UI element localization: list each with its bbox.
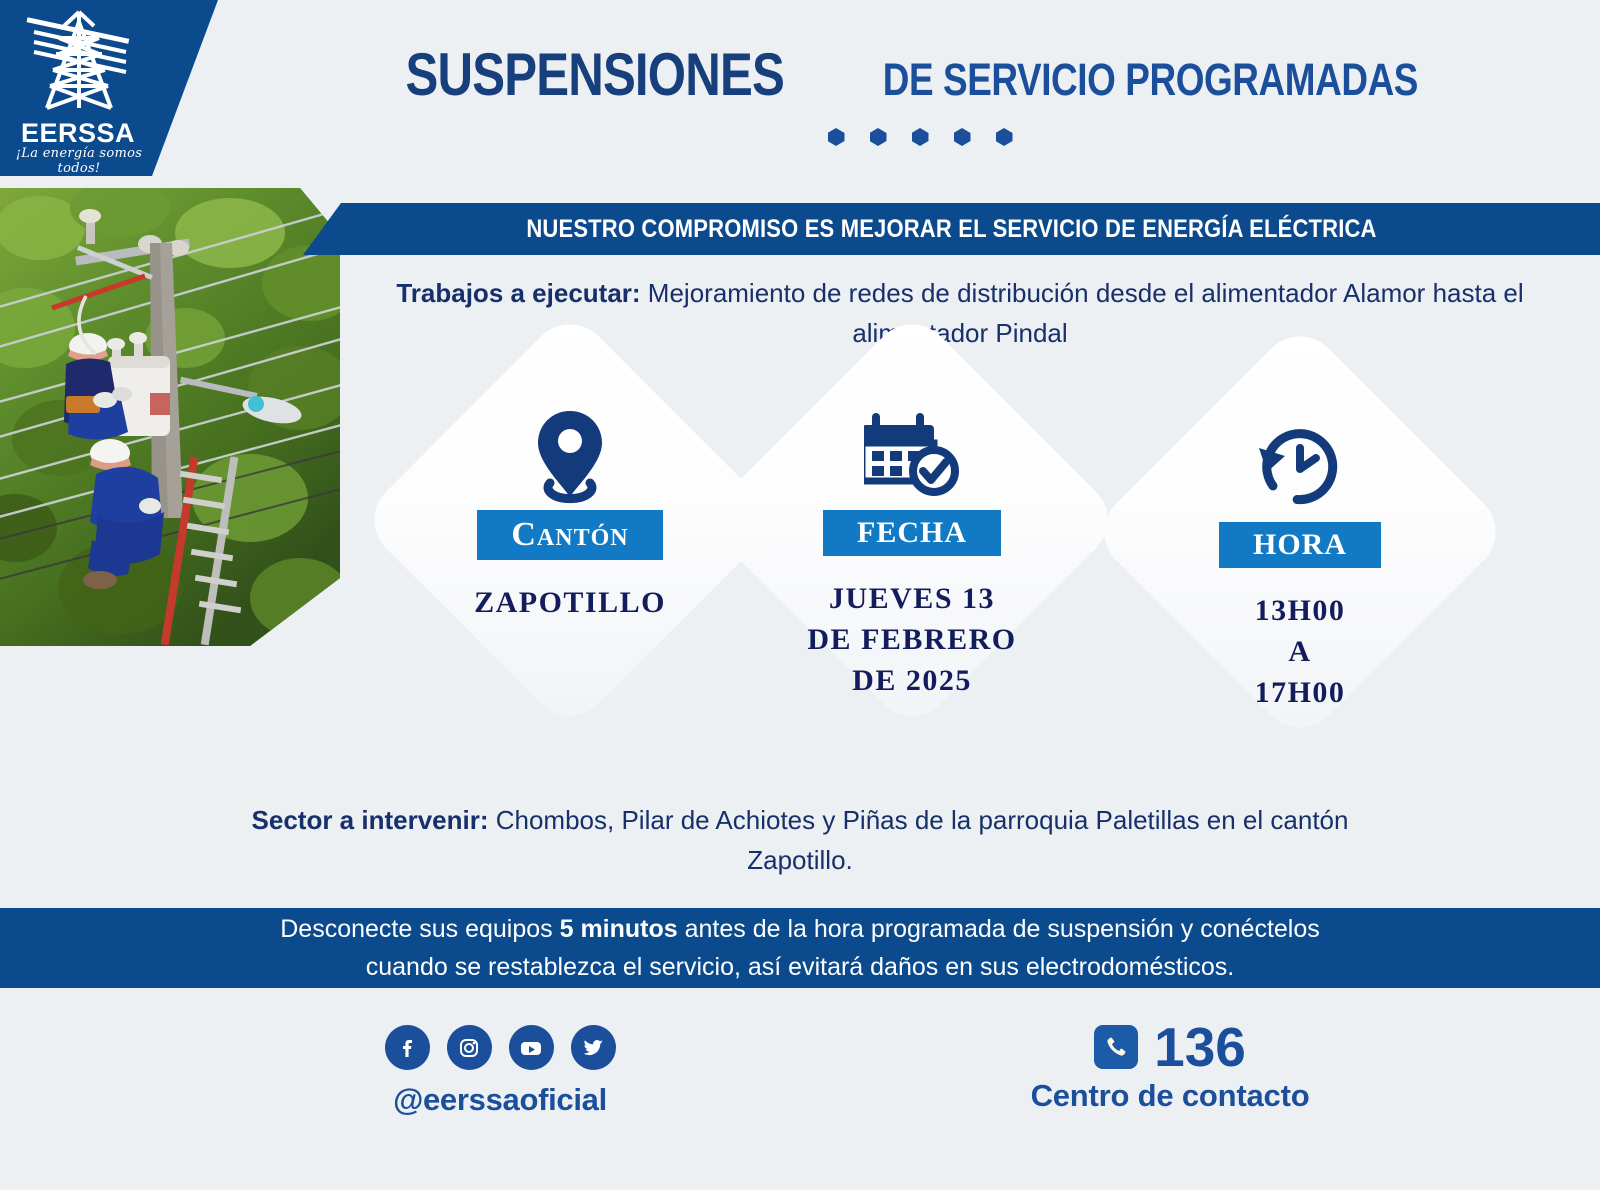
clock-restore-icon xyxy=(1090,412,1510,522)
transmission-tower-icon xyxy=(14,8,144,133)
warning-part1: Desconecte sus equipos xyxy=(280,915,559,943)
works-label: Trabajos a ejecutar: xyxy=(396,278,640,308)
card-fecha: FECHA JUEVES 13 DE FEBRERO DE 2025 xyxy=(762,370,1062,670)
hora-line-1: 13H00 xyxy=(1090,590,1510,631)
commitment-banner: NUESTRO COMPROMISO ES MEJORAR EL SERVICI… xyxy=(303,203,1600,255)
warning-part2: antes de la hora programada de suspensió… xyxy=(678,915,1320,943)
poster-root: EERSSA ¡La energía somos todos! xyxy=(0,0,1600,1190)
separator-dot xyxy=(912,128,929,146)
eerssa-logo-block: EERSSA ¡La energía somos todos! xyxy=(0,0,218,176)
dot-separator xyxy=(300,128,1540,146)
title-rest: DE SERVICIO PROGRAMADAS xyxy=(882,54,1417,106)
title-strong: SUSPENSIONES xyxy=(405,40,783,109)
card-label-fecha: FECHA xyxy=(823,510,1001,556)
card-content: HORA 13H00 A 17H00 xyxy=(1090,412,1510,713)
phone-icon xyxy=(1094,1025,1138,1069)
warning-text: Desconecte sus equipos 5 minutos antes d… xyxy=(280,910,1320,986)
works-text: Mejoramiento de redes de distribución de… xyxy=(641,278,1524,348)
social-section: @eerssaoficial xyxy=(380,1025,620,1118)
contact-top-row: 136 xyxy=(1000,1022,1340,1072)
sector-paragraph: Sector a intervenir: Chombos, Pilar de A… xyxy=(200,800,1400,880)
card-canton: Cantón ZAPOTILLO xyxy=(420,370,720,670)
photo-inner xyxy=(0,188,340,646)
separator-dot xyxy=(828,128,845,146)
logo-wordmark: EERSSA xyxy=(8,118,148,149)
contact-section: 136 Centro de contacto xyxy=(1000,1022,1340,1114)
hora-line-3: 17H00 xyxy=(1090,672,1510,713)
logo-tagline: ¡La energía somos todos! xyxy=(4,146,154,176)
fecha-line-1: JUEVES 13 xyxy=(702,578,1122,619)
twitter-icon[interactable] xyxy=(571,1025,616,1070)
sector-text: Chombos, Pilar de Achiotes y Piñas de la… xyxy=(489,805,1349,875)
card-label-canton: Cantón xyxy=(477,510,662,560)
card-hora: HORA 13H00 A 17H00 xyxy=(1150,382,1450,682)
social-icon-row xyxy=(380,1025,620,1070)
page-title: SUSPENSIONES DE SERVICIO PROGRAMADAS xyxy=(300,40,1540,109)
fecha-line-3: DE 2025 xyxy=(702,660,1122,701)
commitment-banner-text: NUESTRO COMPROMISO ES MEJORAR EL SERVICI… xyxy=(381,203,1522,255)
facebook-icon[interactable] xyxy=(385,1025,430,1070)
card-value-hora: 13H00 A 17H00 xyxy=(1090,590,1510,713)
photo-illustration xyxy=(0,188,340,646)
warning-bar: Desconecte sus equipos 5 minutos antes d… xyxy=(0,908,1600,988)
instagram-icon[interactable] xyxy=(447,1025,492,1070)
separator-dot xyxy=(954,128,971,146)
card-label-hora: HORA xyxy=(1219,522,1381,568)
calendar-check-icon xyxy=(702,400,1122,510)
youtube-icon[interactable] xyxy=(509,1025,554,1070)
warning-line2: cuando se restablezca el servicio, así e… xyxy=(366,953,1235,981)
card-content: FECHA JUEVES 13 DE FEBRERO DE 2025 xyxy=(702,400,1122,701)
social-handle[interactable]: @eerssaoficial xyxy=(380,1082,620,1118)
separator-dot xyxy=(870,128,887,146)
separator-dot xyxy=(996,128,1013,146)
card-value-fecha: JUEVES 13 DE FEBRERO DE 2025 xyxy=(702,578,1122,701)
contact-number: 136 xyxy=(1154,1022,1246,1072)
sector-label: Sector a intervenir: xyxy=(252,805,489,835)
fecha-line-2: DE FEBRERO xyxy=(702,619,1122,660)
warning-bold: 5 minutos xyxy=(560,915,678,943)
hora-line-2: A xyxy=(1090,631,1510,672)
contact-label: Centro de contacto xyxy=(1000,1078,1340,1114)
lineman-photo xyxy=(0,188,340,646)
